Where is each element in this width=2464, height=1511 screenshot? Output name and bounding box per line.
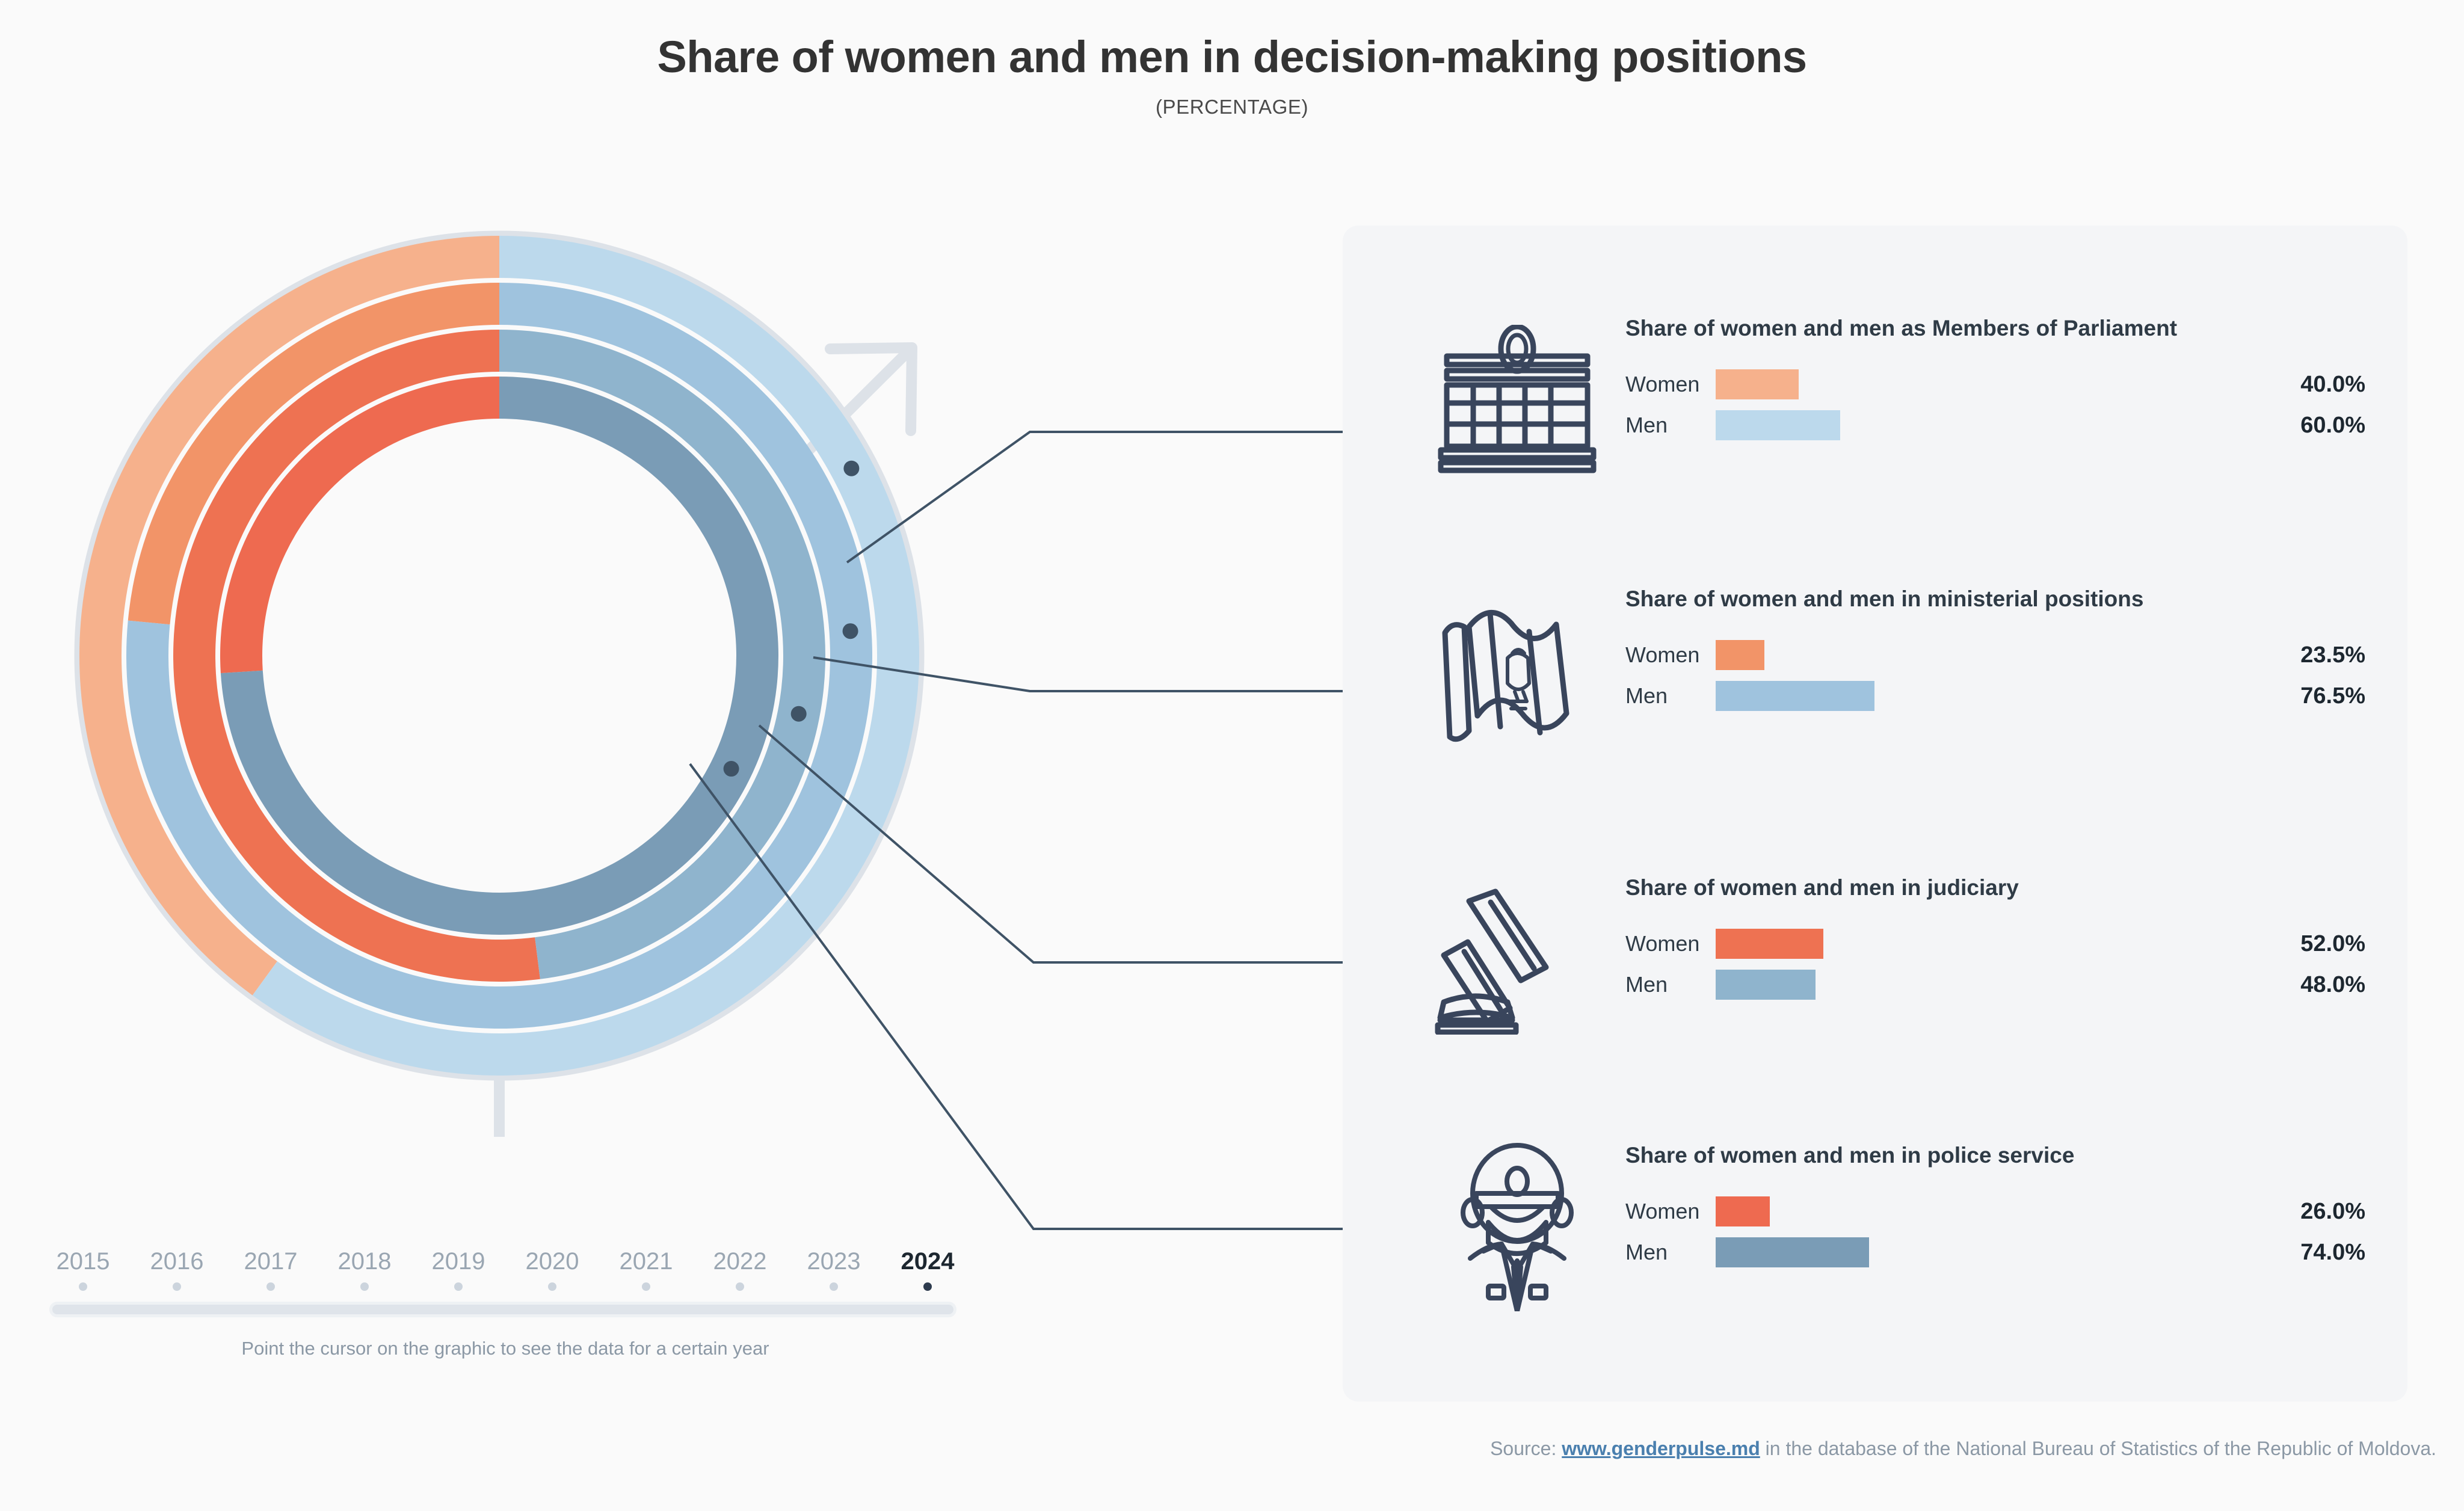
bar-value-women: 40.0% [2227, 372, 2365, 398]
bar-track-women [1716, 364, 2227, 405]
callout-dot-ring-3[interactable] [791, 706, 807, 722]
bar-fill-women [1716, 929, 1823, 959]
bar-label-men: Men [1625, 413, 1716, 438]
callout-dot-ring-2[interactable] [843, 623, 858, 639]
year-dot-cell-2020[interactable] [505, 1282, 599, 1291]
bar-fill-women [1716, 640, 1764, 670]
year-dot-2019[interactable] [454, 1282, 463, 1291]
year-dot-2015[interactable] [79, 1282, 87, 1291]
year-label-2017[interactable]: 2017 [224, 1248, 318, 1275]
card-title: Share of women and men in ministerial po… [1625, 583, 2263, 614]
year-label-2022[interactable]: 2022 [693, 1248, 787, 1275]
bar-label-women: Women [1625, 1199, 1716, 1224]
year-dot-cell-2024[interactable] [881, 1282, 975, 1291]
year-label-row: 2015201620172018201920202021202220232024 [36, 1248, 975, 1275]
year-dot-cell-2021[interactable] [599, 1282, 693, 1291]
bar-fill-women [1716, 369, 1799, 399]
bar-value-men: 74.0% [2227, 1240, 2365, 1266]
indicators-panel: Share of women and men as Members of Par… [1343, 226, 2407, 1402]
year-dot-cell-2016[interactable] [130, 1282, 224, 1291]
bar-label-men: Men [1625, 972, 1716, 997]
callout-dot-ring-1[interactable] [843, 461, 859, 476]
year-label-2019[interactable]: 2019 [411, 1248, 505, 1275]
year-dot-2020[interactable] [548, 1282, 556, 1291]
year-timeline-slider[interactable]: 2015201620172018201920202021202220232024… [36, 1248, 975, 1359]
year-label-2018[interactable]: 2018 [318, 1248, 411, 1275]
bar-fill-men [1716, 410, 1840, 440]
bar-label-women: Women [1625, 372, 1716, 397]
bar-track-men [1716, 964, 2227, 1005]
page-subtitle: (PERCENTAGE) [0, 96, 2464, 118]
source-link[interactable]: www.genderpulse.md [1562, 1438, 1760, 1459]
bar-label-men: Men [1625, 1240, 1716, 1265]
year-dot-cell-2022[interactable] [693, 1282, 787, 1291]
donut-rings[interactable] [79, 236, 919, 1076]
bar-track-men [1716, 675, 2227, 716]
bar-row-women: Women 23.5% [1625, 635, 2365, 675]
bar-label-men: Men [1625, 683, 1716, 709]
police-officer-icon [1427, 1140, 1607, 1314]
year-label-2021[interactable]: 2021 [599, 1248, 693, 1275]
bar-row-men: Men 76.5% [1625, 675, 2365, 716]
slider-track[interactable] [49, 1302, 956, 1317]
bar-fill-men [1716, 970, 1816, 1000]
bar-value-women: 52.0% [2227, 931, 2365, 957]
year-dot-2024[interactable] [923, 1282, 932, 1291]
bar-fill-women [1716, 1196, 1770, 1226]
year-label-2016[interactable]: 2016 [130, 1248, 224, 1275]
card-body: Share of women and men as Members of Par… [1625, 313, 2365, 446]
year-dot-cell-2018[interactable] [318, 1282, 411, 1291]
bar-track-men [1716, 405, 2227, 446]
source-suffix: in the database of the National Bureau o… [1760, 1438, 2436, 1459]
year-label-2024[interactable]: 2024 [881, 1248, 975, 1275]
card-title: Share of women and men in judiciary [1625, 872, 2263, 903]
year-label-2020[interactable]: 2020 [505, 1248, 599, 1275]
bar-track-men [1716, 1232, 2227, 1273]
multi-ring-donut-chart[interactable] [0, 198, 1347, 1137]
bar-label-women: Women [1625, 931, 1716, 956]
card-title: Share of women and men in police service [1625, 1140, 2263, 1171]
bar-row-men: Men 48.0% [1625, 964, 2365, 1005]
bar-value-women: 26.0% [2227, 1199, 2365, 1225]
bar-value-men: 60.0% [2227, 413, 2365, 439]
bar-fill-men [1716, 681, 1874, 711]
callout-dot-ring-4[interactable] [724, 761, 739, 777]
card-body: Share of women and men in judiciary Wome… [1625, 872, 2365, 1005]
bar-row-women: Women 26.0% [1625, 1191, 2365, 1232]
gavel-icon [1427, 872, 1607, 1047]
timeline-hint: Point the cursor on the graphic to see t… [36, 1338, 975, 1359]
year-dot-row[interactable] [36, 1282, 975, 1291]
year-dot-cell-2017[interactable] [224, 1282, 318, 1291]
bar-track-women [1716, 923, 2227, 964]
bar-fill-men [1716, 1237, 1869, 1267]
card-body: Share of women and men in ministerial po… [1625, 583, 2365, 716]
year-dot-2022[interactable] [736, 1282, 744, 1291]
bar-group: Women 23.5% Men 76.5% [1625, 635, 2365, 716]
page-title: Share of women and men in decision-makin… [0, 31, 2464, 82]
year-dot-2017[interactable] [266, 1282, 275, 1291]
parliament-icon [1427, 313, 1607, 487]
source-prefix: Source: [1490, 1438, 1562, 1459]
bar-row-men: Men 60.0% [1625, 405, 2365, 446]
year-dot-2021[interactable] [642, 1282, 650, 1291]
bar-row-women: Women 40.0% [1625, 364, 2365, 405]
header: Share of women and men in decision-makin… [0, 0, 2464, 118]
bar-track-women [1716, 1191, 2227, 1232]
year-label-2015[interactable]: 2015 [36, 1248, 130, 1275]
year-dot-cell-2019[interactable] [411, 1282, 505, 1291]
flag-icon [1427, 583, 1607, 758]
bar-group: Women 40.0% Men 60.0% [1625, 364, 2365, 446]
year-dot-cell-2015[interactable] [36, 1282, 130, 1291]
bar-row-men: Men 74.0% [1625, 1232, 2365, 1273]
card-title: Share of women and men as Members of Par… [1625, 313, 2263, 343]
year-label-2023[interactable]: 2023 [787, 1248, 881, 1275]
source-footer: Source: www.genderpulse.md in the databa… [0, 1438, 2436, 1460]
year-dot-cell-2023[interactable] [787, 1282, 881, 1291]
bar-label-women: Women [1625, 642, 1716, 668]
year-dot-2023[interactable] [830, 1282, 838, 1291]
bar-value-men: 76.5% [2227, 683, 2365, 709]
year-dot-2016[interactable] [173, 1282, 181, 1291]
bar-value-women: 23.5% [2227, 642, 2365, 668]
bar-group: Women 52.0% Men 48.0% [1625, 923, 2365, 1005]
bar-value-men: 48.0% [2227, 972, 2365, 998]
card-body: Share of women and men in police service… [1625, 1140, 2365, 1273]
year-dot-2018[interactable] [360, 1282, 369, 1291]
donut-chart-panel[interactable] [0, 198, 1347, 1137]
bar-group: Women 26.0% Men 74.0% [1625, 1191, 2365, 1273]
bar-row-women: Women 52.0% [1625, 923, 2365, 964]
bar-track-women [1716, 635, 2227, 675]
